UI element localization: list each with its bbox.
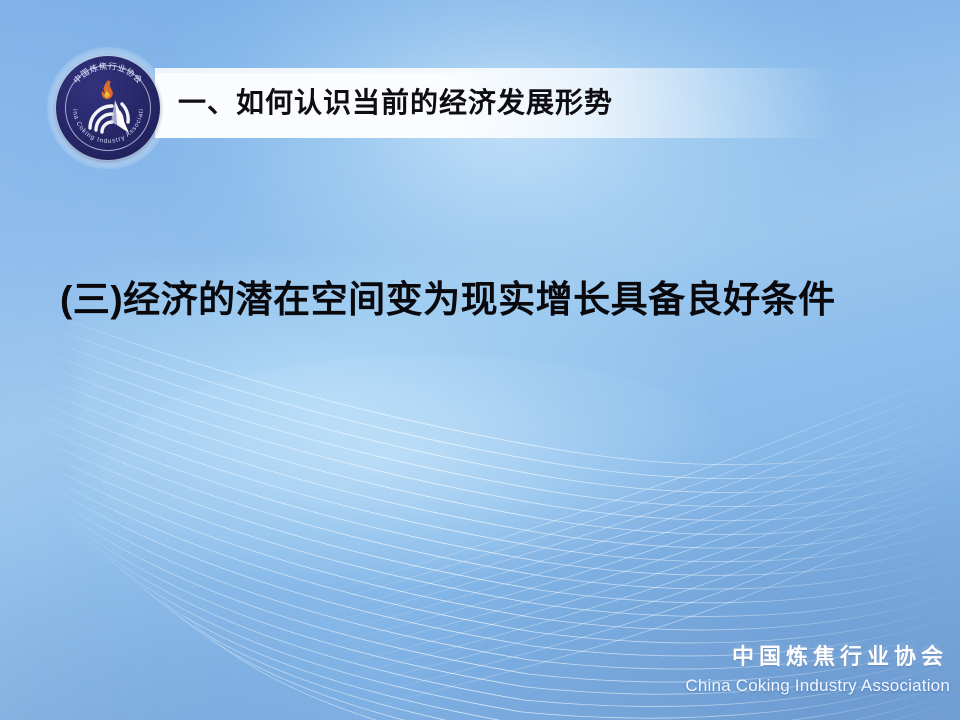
- header-band-highlight: [155, 68, 715, 73]
- slide-body-heading: (三)经济的潜在空间变为现实增长具备良好条件: [60, 272, 900, 328]
- slide-header: 一、如何认识当前的经济发展形势 中国炼焦行业协会 China Coking In…: [0, 0, 960, 175]
- presentation-slide: 一、如何认识当前的经济发展形势 中国炼焦行业协会 China Coking In…: [0, 0, 960, 720]
- footer-org-name-en: China Coking Industry Association: [540, 674, 950, 698]
- logo-disc: 中国炼焦行业协会 China Coking Industry Associati…: [56, 56, 160, 160]
- arrow-mark-icon: [111, 100, 129, 133]
- flame-icon: [102, 80, 113, 99]
- slide-footer: 中国炼焦行业协会 China Coking Industry Associati…: [540, 642, 960, 698]
- association-logo: 中国炼焦行业协会 China Coking Industry Associati…: [56, 56, 160, 160]
- logo-emblem-icon: 中国炼焦行业协会 China Coking Industry Associati…: [56, 56, 160, 160]
- footer-org-name-cn: 中国炼焦行业协会: [540, 642, 950, 672]
- page-title: 一、如何认识当前的经济发展形势: [178, 78, 613, 128]
